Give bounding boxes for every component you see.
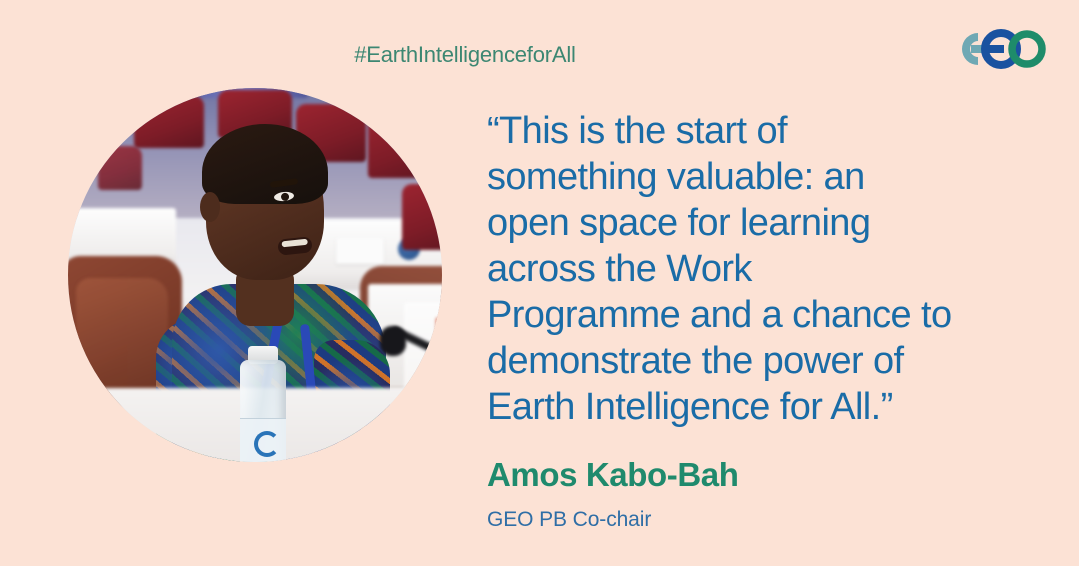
photo-bottle-label xyxy=(240,418,286,462)
author-role: GEO PB Co-chair xyxy=(487,508,651,532)
quote-line: something valuable: an xyxy=(487,154,1047,200)
author-name: Amos Kabo-Bah xyxy=(487,456,739,494)
photo-seat xyxy=(402,184,442,250)
photo-person-ear xyxy=(200,192,220,222)
photo-seat xyxy=(98,146,142,190)
quote-line: “This is the start of xyxy=(487,108,1047,154)
geo-logo xyxy=(951,24,1051,74)
quote-text: “This is the start of something valuable… xyxy=(487,108,1047,430)
photo-name-card xyxy=(336,238,384,264)
photo-microphone xyxy=(380,326,406,356)
photo-seat xyxy=(368,114,436,178)
quote-line: demonstrate the power of xyxy=(487,338,1047,384)
photo-leather-chair xyxy=(76,278,168,396)
speaker-photo xyxy=(68,88,442,462)
geo-logo-icon xyxy=(951,24,1051,74)
quote-line: across the Work xyxy=(487,246,1047,292)
quote-card: #EarthIntelligenceforAll xyxy=(0,0,1079,566)
photo-seat xyxy=(134,96,204,148)
campaign-hashtag: #EarthIntelligenceforAll xyxy=(0,42,930,68)
photo-ceiling-light xyxy=(320,88,416,98)
quote-line: Earth Intelligence for All.” xyxy=(487,384,1047,430)
quote-line: open space for learning xyxy=(487,200,1047,246)
quote-line: Programme and a chance to xyxy=(487,292,1047,338)
